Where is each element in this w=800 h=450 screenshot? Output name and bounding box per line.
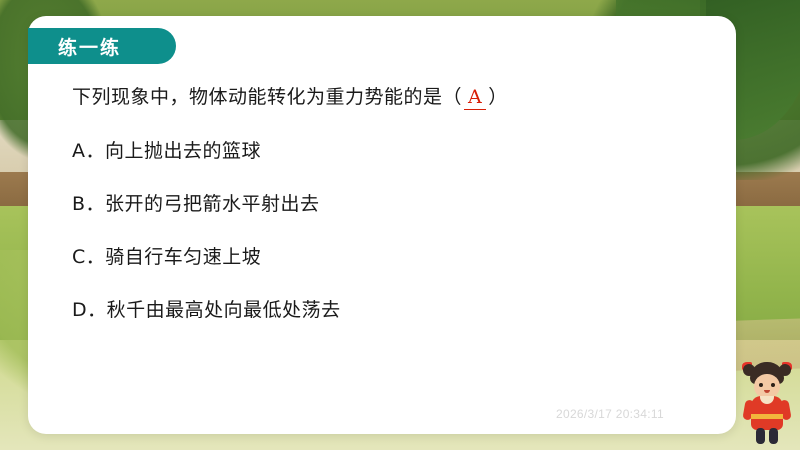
mascot-belt <box>751 414 783 419</box>
mascot-face <box>754 374 780 398</box>
section-title-tab: 练一练 <box>28 28 176 64</box>
question-block: 下列现象中，物体动能转化为重力势能的是（ A ） A．向上抛出去的篮球 B．张开… <box>72 82 692 322</box>
question-stem: 下列现象中，物体动能转化为重力势能的是（ A ） <box>72 82 692 110</box>
section-title-label: 练一练 <box>58 33 121 60</box>
option-c[interactable]: C．骑自行车匀速上坡 <box>72 242 692 269</box>
option-b[interactable]: B．张开的弓把箭水平射出去 <box>72 189 692 216</box>
mascot-leg-left <box>756 428 765 444</box>
question-stem-prefix: 下列现象中，物体动能转化为重力势能的是（ <box>72 82 462 109</box>
question-stem-suffix: ） <box>488 82 508 109</box>
mascot-icon <box>742 362 792 446</box>
option-d[interactable]: D．秋千由最高处向最低处荡去 <box>72 295 692 322</box>
mascot-eye-left <box>759 383 763 387</box>
answer-blank: A <box>464 87 486 110</box>
slide-root: 练一练 下列现象中，物体动能转化为重力势能的是（ A ） A．向上抛出去的篮球 … <box>0 0 800 450</box>
mascot-eye-right <box>771 383 775 387</box>
timestamp-label: 2026/3/17 20:34:11 <box>556 407 664 421</box>
mascot-leg-right <box>769 428 778 444</box>
option-a[interactable]: A．向上抛出去的篮球 <box>72 136 692 163</box>
